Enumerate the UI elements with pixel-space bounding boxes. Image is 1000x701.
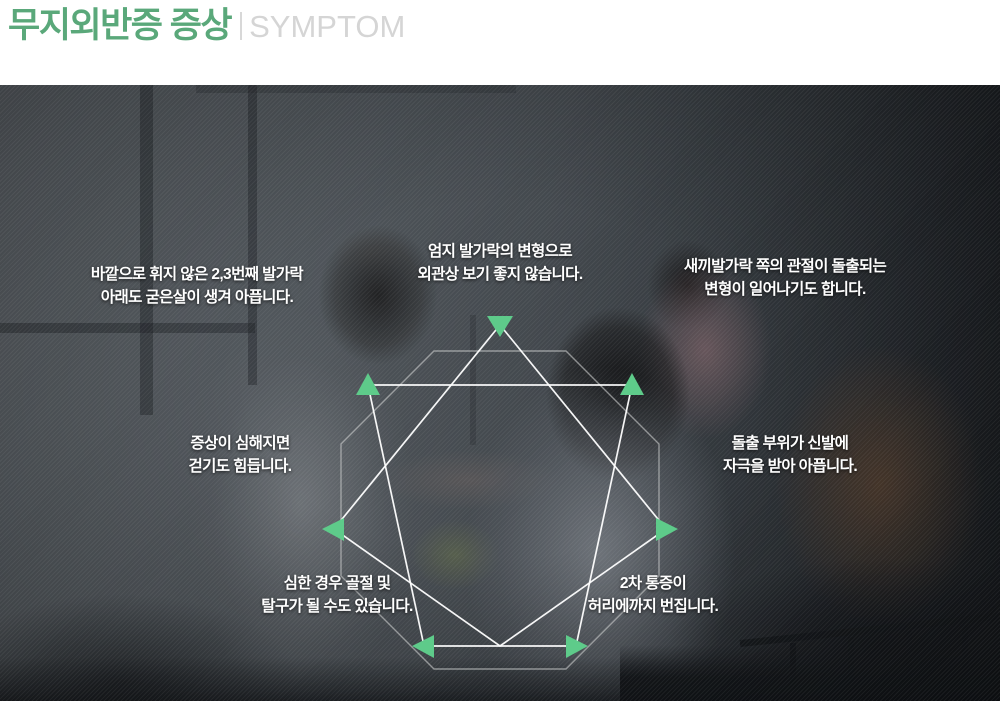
label-line: 돌출 부위가 신발에 [680,432,900,455]
label-node-bottom-left: 심한 경우 골절 및 탈구가 될 수도 있습니다. [222,572,452,618]
label-line: 걷기도 힘듭니다. [130,455,350,478]
label-line: 아래도 굳은살이 생겨 아픕니다. [52,286,342,309]
arrowhead-left [322,518,344,541]
page-header: 무지외반증 증상 SYMPTOM [0,0,1000,85]
label-line: 외관상 보기 좋지 않습니다. [330,263,670,286]
label-line: 허리에까지 번집니다. [553,595,753,618]
page-title: 무지외반증 증상 SYMPTOM [8,6,405,47]
label-node-bottom-right: 2차 통증이 허리에까지 번집니다. [553,572,753,618]
label-node-right: 돌출 부위가 신발에 자극을 받아 아픕니다. [680,432,900,478]
symptom-infographic-page: 무지외반증 증상 SYMPTOM [0,0,1000,701]
octagon-star-diagram [0,85,1000,701]
page-title-korean: 무지외반증 증상 [8,6,231,46]
label-node-top: 엄지 발가락의 변형으로 외관상 보기 좋지 않습니다. [330,240,670,286]
label-line: 증상이 심해지면 [130,432,350,455]
arrowhead-top [487,316,513,337]
label-line: 2차 통증이 [553,572,753,595]
arrowhead-top-right [620,373,644,395]
label-line: 변형이 일어나기도 합니다. [640,278,930,301]
page-title-english: SYMPTOM [249,7,405,47]
title-divider [240,12,242,40]
label-node-top-right: 새끼발가락 쪽의 관절이 돌출되는 변형이 일어나기도 합니다. [640,255,930,301]
label-line: 엄지 발가락의 변형으로 [330,240,670,263]
label-line: 자극을 받아 아픕니다. [680,455,900,478]
arrowhead-right [656,518,678,541]
label-node-top-left: 바깥으로 휘지 않은 2,3번째 발가락 아래도 굳은살이 생겨 아픕니다. [52,263,342,309]
octagon-outline [341,351,659,669]
arrowhead-top-left [356,373,380,395]
label-line: 탈구가 될 수도 있습니다. [222,595,452,618]
label-line: 심한 경우 골절 및 [222,572,452,595]
label-line: 새끼발가락 쪽의 관절이 돌출되는 [640,255,930,278]
label-node-left: 증상이 심해지면 걷기도 힘듭니다. [130,432,350,478]
label-line: 바깥으로 휘지 않은 2,3번째 발가락 [52,263,342,286]
hero-section: 엄지 발가락의 변형으로 외관상 보기 좋지 않습니다. 새끼발가락 쪽의 관절… [0,85,1000,701]
